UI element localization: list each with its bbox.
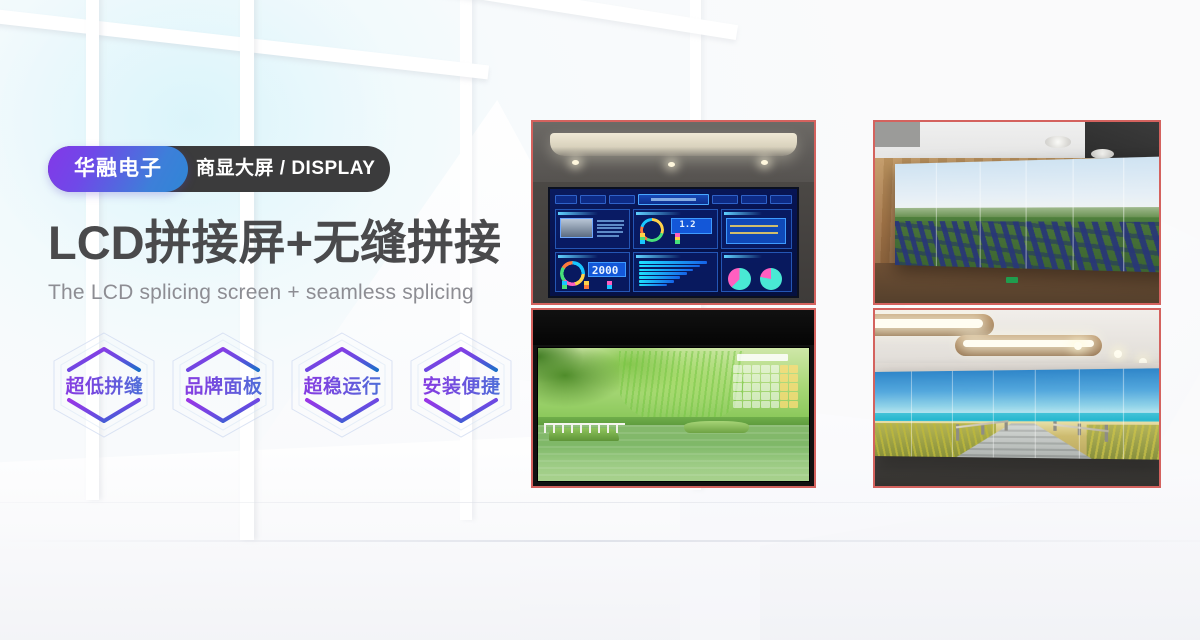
dashboard-row-top: 1.2 (555, 209, 791, 249)
calendar-cell (771, 401, 779, 409)
background-floor-line (0, 540, 1200, 542)
bar-item (639, 272, 687, 275)
willow-branches (619, 351, 743, 426)
legend-swatch (640, 240, 645, 244)
video-wall-screen (873, 368, 1161, 460)
panel-seam (936, 162, 937, 266)
panel-seam (1123, 368, 1124, 459)
bar-item (639, 265, 700, 268)
dashboard-card (633, 252, 718, 292)
calendar-cell (733, 401, 741, 409)
panel-seam (1025, 160, 1026, 269)
brand-name-label: 华融电子 (48, 146, 188, 192)
bar-item (639, 261, 707, 264)
background-floor-line-upper (0, 502, 1200, 503)
dashboard-card: 1.2 (633, 209, 718, 249)
calendar-cell (761, 365, 769, 373)
flow-line (730, 225, 778, 227)
topbar-chip (580, 195, 606, 204)
topbar-chip (555, 195, 576, 204)
bar-item (639, 284, 667, 287)
photo-dashboard-video-wall[interactable]: 1.2 (531, 120, 816, 305)
calendar-cell (752, 365, 760, 373)
calendar-cell (780, 383, 788, 391)
panel-seam (980, 161, 981, 267)
photo-beach-boardwalk-video-wall[interactable] (873, 308, 1161, 488)
calendar-cell (761, 401, 769, 409)
calendar-cell (743, 401, 751, 409)
sky (895, 156, 1161, 210)
calendar-cell (780, 401, 788, 409)
dashboard-card (721, 252, 792, 292)
feature-hexagon-2: 品牌面板 (167, 329, 280, 441)
calendar-cell (733, 365, 741, 373)
card-thumbnail (560, 218, 593, 238)
legend-swatch (607, 285, 612, 289)
cove-light (550, 133, 797, 157)
topbar-chip (609, 195, 635, 204)
calendar-cell (761, 383, 769, 391)
product-photo-gallery: 1.2 (531, 120, 1161, 488)
solar-panel-array (895, 220, 1161, 272)
feature-hexagon-2-label: 品牌面板 (167, 371, 280, 398)
calendar-cell (771, 383, 779, 391)
card-header (636, 212, 682, 215)
photo-solar-farm-video-wall[interactable] (873, 120, 1161, 305)
calendar-cell (752, 374, 760, 382)
panel-seam (1073, 159, 1074, 270)
islet (684, 421, 749, 433)
panel-seam (993, 370, 994, 458)
feature-hexagon-4-label: 安装便捷 (405, 371, 518, 398)
feature-hexagon-1-label: 超低拼缝 (48, 371, 161, 398)
pie-chart (760, 268, 782, 290)
card-header (558, 255, 598, 258)
calendar-cell (761, 374, 769, 382)
brand-badge: 商显大屏 / DISPLAY 华融电子 (48, 146, 390, 192)
page-title: LCD拼接屏+无缝拼接 (48, 219, 518, 268)
brand-category-label: 商显大屏 / DISPLAY (196, 146, 375, 192)
dashboard-row-bottom: 2000 (555, 252, 791, 292)
calendar-cell (771, 365, 779, 373)
calendar-cell (743, 383, 751, 391)
hero-copy-block: 商显大屏 / DISPLAY 华融电子 LCD拼接屏+无缝拼接 The LCD … (48, 146, 518, 441)
spot-light (668, 162, 675, 167)
kpi-value: 2000 (592, 264, 619, 277)
video-wall-screen: 1.2 (548, 187, 798, 297)
pie-chart (728, 268, 750, 290)
card-text-line (597, 220, 625, 222)
rope-post (1105, 425, 1108, 441)
card-header (558, 212, 598, 215)
photo-willow-lake-video-wall[interactable] (531, 308, 816, 488)
video-wall-screen (537, 347, 810, 483)
card-text-line (597, 227, 622, 229)
calendar-cell (789, 365, 797, 373)
sky (873, 368, 1161, 416)
card-header (724, 255, 762, 258)
calendar-cell (761, 392, 769, 400)
calendar-cell (743, 392, 751, 400)
calendar-cell (771, 392, 779, 400)
feature-hexagon-3: 超稳运行 (286, 329, 399, 441)
calendar-cell (752, 392, 760, 400)
dashboard-card (721, 209, 792, 249)
card-header (636, 255, 682, 258)
dashboard-card: 2000 (555, 252, 629, 292)
legend-swatch (675, 240, 680, 244)
calendar-title (737, 354, 788, 360)
card-text-line (597, 224, 625, 226)
card-text-line (597, 235, 619, 237)
spot-light (761, 160, 768, 165)
calendar-cell (789, 392, 797, 400)
calendar-cell (733, 392, 741, 400)
calendar-cell (789, 401, 797, 409)
calendar-cell (780, 374, 788, 382)
calendar-cell (733, 374, 741, 382)
calendar-cell (733, 383, 741, 391)
top-bezel (533, 310, 814, 345)
calendar-cell (780, 365, 788, 373)
dashboard-card (555, 209, 629, 249)
legend-swatch (584, 285, 589, 289)
feature-hexagon-list: 超低拼缝 品牌面板 (48, 329, 518, 441)
ceiling-recess-left (875, 122, 920, 147)
calendar-cell (752, 401, 760, 409)
bar-item (639, 269, 694, 272)
brand-name-pill: 华融电子 (48, 146, 188, 192)
topbar-chip (770, 195, 791, 204)
topbar-chip (712, 195, 738, 204)
topbar-chip (741, 195, 767, 204)
calendar-cell (752, 383, 760, 391)
dashboard-title-bar (638, 194, 710, 204)
calendar-cell (771, 374, 779, 382)
feature-hexagon-1: 超低拼缝 (48, 329, 161, 441)
feature-hexagon-3-label: 超稳运行 (286, 371, 399, 398)
panel-seam (1123, 157, 1124, 271)
kpi-value: 1.2 (679, 220, 695, 230)
card-header (724, 212, 762, 215)
ceiling-light (1045, 136, 1071, 147)
ceiling-light-strip (873, 319, 983, 328)
panel-seam (1079, 369, 1080, 459)
card-text-line (597, 231, 623, 233)
bar-item (639, 276, 680, 279)
calendar-cell (780, 392, 788, 400)
white-railing (544, 423, 625, 434)
bar-item (639, 280, 674, 283)
calendar-grid (733, 365, 798, 408)
calendar-cell (743, 374, 751, 382)
flow-line (730, 232, 778, 234)
calendar-cell (789, 374, 797, 382)
page-subtitle: The LCD splicing screen + seamless splic… (48, 281, 518, 305)
exit-sign-icon (1006, 277, 1018, 283)
feature-hexagon-4: 安装便捷 (405, 329, 518, 441)
video-wall-screen (895, 156, 1161, 273)
calendar-cell (743, 365, 751, 373)
downlight (1074, 342, 1082, 350)
dashboard-topbar (555, 193, 791, 206)
calendar-cell (789, 383, 797, 391)
calendar-overlay (730, 353, 800, 412)
legend-swatch (562, 285, 567, 289)
